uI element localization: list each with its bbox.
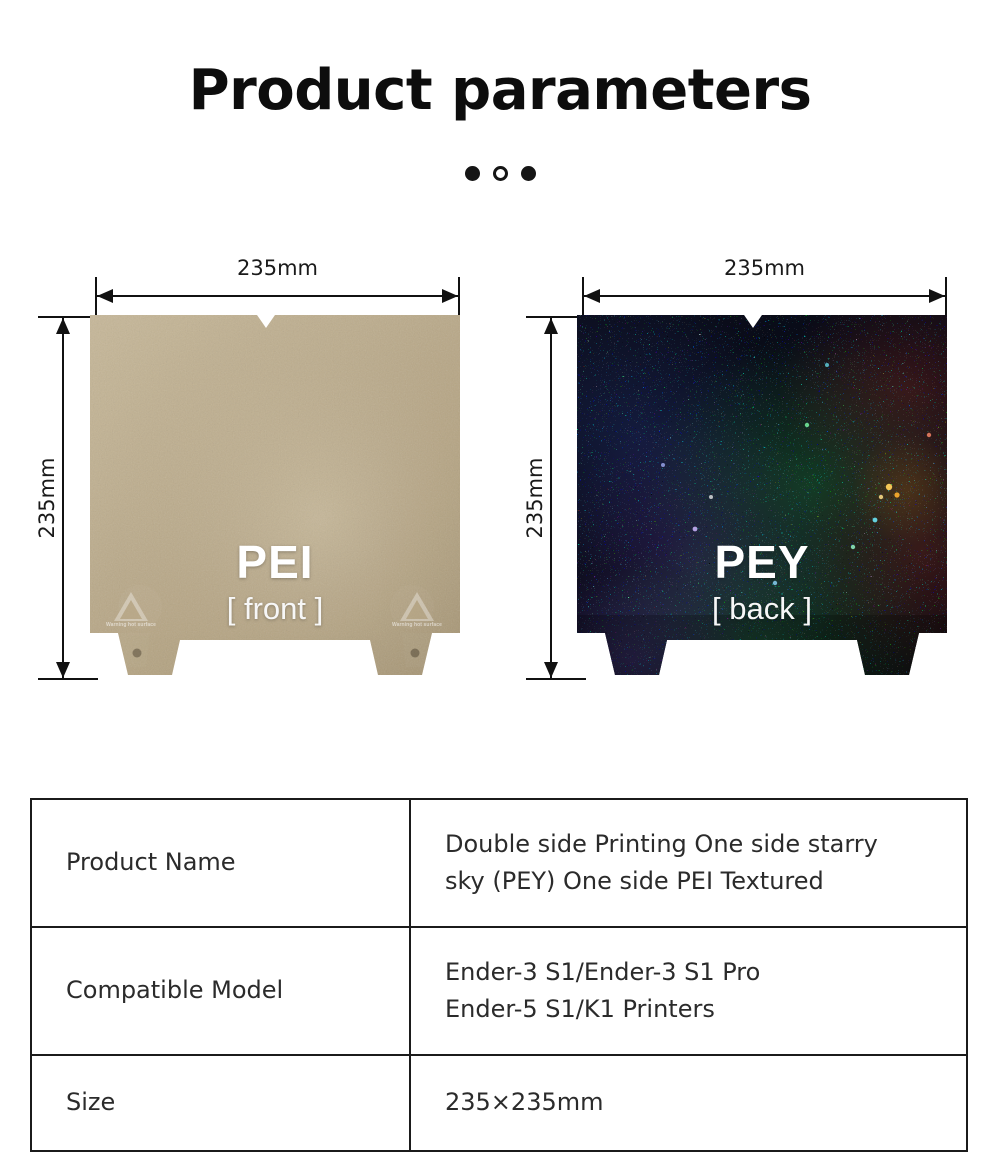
spec-value-compatible-model: Ender-3 S1/Ender-3 S1 Pro Ender-5 S1/K1 … — [410, 927, 967, 1055]
pey-height-dimension: 235mm — [510, 316, 564, 680]
warning-triangle-icon — [400, 592, 434, 621]
pei-width-arrow-left — [97, 289, 113, 303]
table-row: Compatible Model Ender-3 S1/Ender-3 S1 P… — [31, 927, 967, 1055]
pei-width-line — [97, 295, 458, 297]
spec-key-compatible-model: Compatible Model — [31, 927, 410, 1055]
pei-width-label: 235mm — [95, 256, 460, 280]
spec-value-line: 235×235mm — [445, 1084, 966, 1121]
pey-width-arrow-right — [929, 289, 945, 303]
pey-width-tick-right — [945, 277, 947, 315]
spec-key-size: Size — [31, 1055, 410, 1151]
pey-width-line — [584, 295, 945, 297]
page-title: Product parameters — [0, 58, 1000, 123]
product-spec-table: Product Name Double side Printing One si… — [30, 798, 968, 1152]
pey-width-label: 235mm — [582, 256, 947, 280]
carousel-dot-1[interactable] — [465, 166, 480, 181]
pei-warning-badge-right: Warning hot surface — [390, 592, 444, 628]
pei-height-dimension: 235mm — [22, 316, 76, 680]
pey-width-arrow-left — [584, 289, 600, 303]
pey-height-arrow-top — [544, 318, 558, 334]
pei-plate-svg — [90, 315, 460, 705]
pey-width-dimension: 235mm — [582, 259, 947, 309]
pei-width-dimension: 235mm — [95, 259, 460, 309]
pei-warning-text-left: Warning hot surface — [104, 622, 158, 628]
table-row: Product Name Double side Printing One si… — [31, 799, 967, 927]
warning-triangle-icon — [114, 592, 148, 621]
pey-height-arrow-bottom — [544, 662, 558, 678]
pei-plate-image: PEI [ front ] Warning hot surface Warnin… — [90, 315, 460, 705]
spec-key-product-name: Product Name — [31, 799, 410, 927]
spec-value-line: Ender-3 S1/Ender-3 S1 Pro — [445, 954, 966, 991]
spec-value-size: 235×235mm — [410, 1055, 967, 1151]
carousel-dot-3[interactable] — [521, 166, 536, 181]
pei-height-tick-bottom — [38, 678, 98, 680]
spec-value-line: Double side Printing One side starry — [445, 826, 966, 863]
pei-width-arrow-right — [442, 289, 458, 303]
pey-height-label: 235mm — [523, 433, 547, 563]
pei-warning-badge-left: Warning hot surface — [104, 592, 158, 628]
pey-plate-image: PEY [ back ] — [577, 315, 947, 705]
pey-height-line — [550, 318, 552, 678]
pei-height-arrow-bottom — [56, 662, 70, 678]
pey-plate-svg — [577, 315, 947, 705]
pei-width-tick-right — [458, 277, 460, 315]
spec-value-product-name: Double side Printing One side starry sky… — [410, 799, 967, 927]
pei-warning-text-right: Warning hot surface — [390, 622, 444, 628]
carousel-dot-2[interactable] — [493, 166, 508, 181]
figure-pei-plate: 235mm 235mm — [0, 245, 500, 715]
pei-height-label: 235mm — [35, 433, 59, 563]
pei-height-line — [62, 318, 64, 678]
carousel-dots — [0, 166, 1000, 181]
pei-height-arrow-top — [56, 318, 70, 334]
table-row: Size 235×235mm — [31, 1055, 967, 1151]
spec-value-line: sky (PEY) One side PEI Textured — [445, 863, 966, 900]
figure-pey-plate: 235mm 235mm — [500, 245, 1000, 715]
spec-value-line: Ender-5 S1/K1 Printers — [445, 991, 966, 1028]
